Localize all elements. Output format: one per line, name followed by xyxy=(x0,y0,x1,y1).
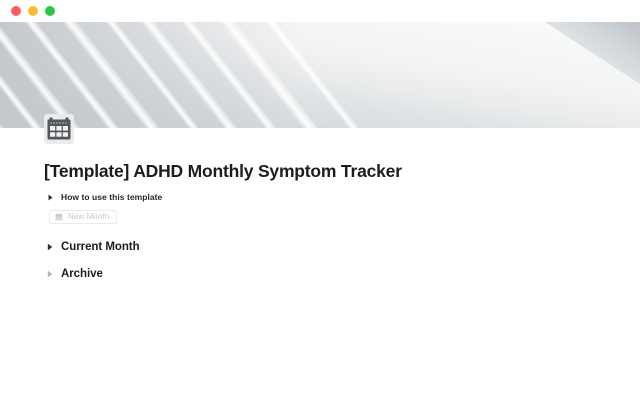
page-title[interactable]: [Template] ADHD Monthly Symptom Tracker xyxy=(44,128,596,182)
toggle-how-to-use[interactable]: How to use this template xyxy=(44,192,596,202)
chevron-right-icon[interactable] xyxy=(44,243,56,251)
template-button-row: New Month xyxy=(44,208,596,226)
minimize-button[interactable] xyxy=(28,6,38,16)
toggle-label: Current Month xyxy=(61,241,140,253)
window-titlebar xyxy=(0,0,640,22)
window-controls xyxy=(11,6,55,16)
toggle-label: How to use this template xyxy=(61,192,162,202)
maximize-button[interactable] xyxy=(45,6,55,16)
chevron-right-icon[interactable] xyxy=(44,194,56,201)
new-month-template-button[interactable]: New Month xyxy=(49,210,117,224)
calendar-icon[interactable] xyxy=(44,114,74,144)
page-body: [Template] ADHD Monthly Symptom Tracker … xyxy=(0,128,640,400)
toggle-label: Archive xyxy=(61,268,103,280)
chevron-right-icon[interactable] xyxy=(44,270,56,278)
template-button-label: New Month xyxy=(68,213,109,221)
toggle-archive[interactable]: Archive xyxy=(44,268,596,280)
calendar-icon xyxy=(55,213,63,221)
close-button[interactable] xyxy=(11,6,21,16)
page-cover-image[interactable] xyxy=(0,22,640,128)
toggle-current-month[interactable]: Current Month xyxy=(44,241,596,253)
cover-artwork xyxy=(0,22,640,128)
app-window: [Template] ADHD Monthly Symptom Tracker … xyxy=(0,0,640,400)
page-content: [Template] ADHD Monthly Symptom Tracker … xyxy=(0,128,640,280)
